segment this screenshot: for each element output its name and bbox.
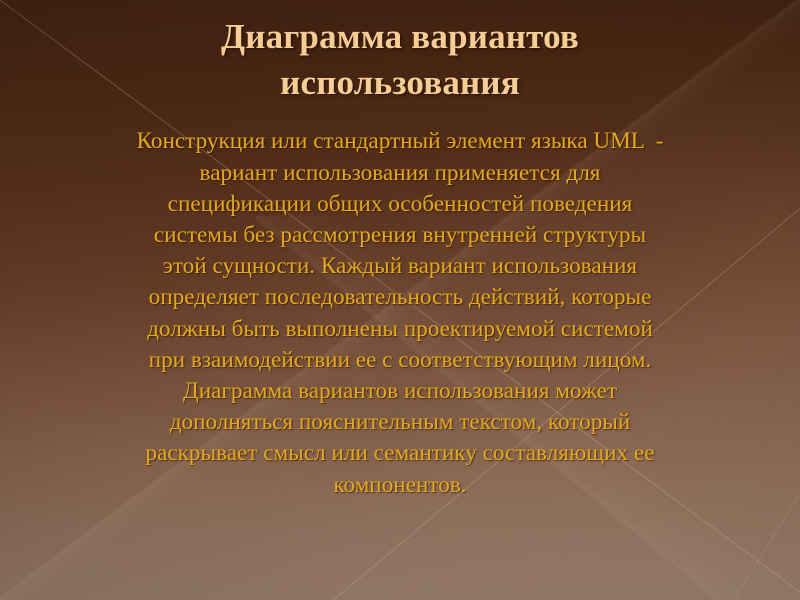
body-line: вариант использования применяется для <box>62 158 738 189</box>
body-line: определяет последовательность действий, … <box>62 282 738 313</box>
body-line: компонентов. <box>62 470 738 501</box>
body-line: спецификации общих особенностей поведени… <box>62 189 738 220</box>
body-line: системы без рассмотрения внутренней стру… <box>62 220 738 251</box>
body-line: дополняться пояснительным текстом, котор… <box>62 407 738 438</box>
body-line: при взаимодействии ее с соответствующим … <box>62 345 738 376</box>
slide-content: Диаграмма вариантов использования Констр… <box>0 0 800 600</box>
slide-title: Диаграмма вариантов использования <box>34 14 766 106</box>
slide-title-line-2: использования <box>280 63 520 102</box>
body-line: Диаграмма вариантов использования может <box>62 376 738 407</box>
presentation-slide: Диаграмма вариантов использования Констр… <box>0 0 800 600</box>
body-line: этой сущности. Каждый вариант использова… <box>62 251 738 282</box>
slide-title-line-1: Диаграмма вариантов <box>221 17 579 56</box>
body-line: раскрывает смысл или семантику составляю… <box>62 438 738 469</box>
body-line: Конструкция или стандартный элемент язык… <box>62 126 738 157</box>
body-line: должны быть выполнены проектируемой сист… <box>62 314 738 345</box>
slide-body-text: Конструкция или стандартный элемент язык… <box>34 126 766 500</box>
